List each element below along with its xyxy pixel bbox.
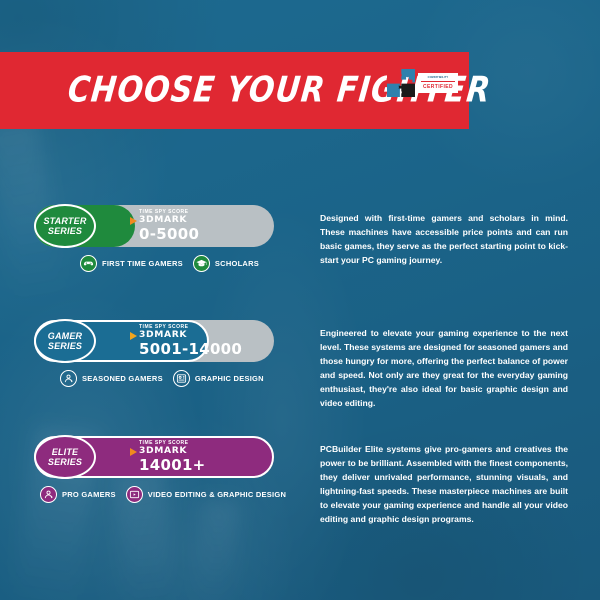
score-track: ELITE SERIES TIME SPY SCORE 3DMARK 14001… <box>34 436 274 478</box>
graduation-cap-icon <box>193 255 210 272</box>
video-edit-icon <box>126 486 143 503</box>
tag-first-time-gamers: FIRST TIME GAMERS <box>80 255 183 272</box>
tag-label: PRO GAMERS <box>62 490 116 499</box>
tag-label: FIRST TIME GAMERS <box>102 259 183 268</box>
tag-video-editing-graphic-design: VIDEO EDITING & GRAPHIC DESIGN <box>126 486 286 503</box>
score-track: STARTER SERIES TIME SPY SCORE 3DMARK 0-5… <box>34 205 274 247</box>
series-badge: GAMER SERIES <box>34 319 96 363</box>
score-brand: 3DMARK <box>139 446 207 457</box>
tier-description-column: Designed with first-time gamers and scho… <box>310 205 568 267</box>
divider <box>421 81 455 82</box>
score-block: TIME SPY SCORE 3DMARK 14001+ <box>130 440 206 474</box>
score-block: TIME SPY SCORE 3DMARK 5001-14000 <box>130 324 242 358</box>
tier-meter-column: ELITE SERIES TIME SPY SCORE 3DMARK 14001… <box>34 436 310 503</box>
score-value: 5001-14000 <box>139 341 242 358</box>
certified-plate: COMPATIBILITY CERTIFIED <box>418 73 458 92</box>
tier-tags: PRO GAMERS VIDEO EDITING & GRAPHIC DESIG… <box>40 486 310 503</box>
gamepad-icon <box>80 255 97 272</box>
score-value: 0-5000 <box>139 226 199 243</box>
tier-card-gamer: GAMER SERIES TIME SPY SCORE 3DMARK 5001-… <box>34 320 568 410</box>
tag-scholars: SCHOLARS <box>193 255 259 272</box>
tag-label: SCHOLARS <box>215 259 259 268</box>
compatibility-certified-badge: COMPATIBILITY CERTIFIED <box>386 68 458 98</box>
tier-description: Engineered to elevate your gaming experi… <box>320 326 568 410</box>
score-brand: 3DMARK <box>139 215 200 226</box>
tier-meter-column: STARTER SERIES TIME SPY SCORE 3DMARK 0-5… <box>34 205 310 272</box>
score-block: TIME SPY SCORE 3DMARK 0-5000 <box>130 209 199 243</box>
tag-label: SEASONED GAMERS <box>82 374 163 383</box>
puzzle-icon <box>386 68 416 98</box>
score-brand: 3DMARK <box>139 330 244 341</box>
series-badge-line1: GAMER <box>48 331 83 341</box>
tag-graphic-design: GRAPHIC DESIGN <box>173 370 264 387</box>
tier-meter-column: GAMER SERIES TIME SPY SCORE 3DMARK 5001-… <box>34 320 310 387</box>
tag-label: VIDEO EDITING & GRAPHIC DESIGN <box>148 490 286 499</box>
tag-label: GRAPHIC DESIGN <box>195 374 264 383</box>
design-tablet-icon <box>173 370 190 387</box>
tier-card-starter: STARTER SERIES TIME SPY SCORE 3DMARK 0-5… <box>34 205 568 272</box>
series-badge: STARTER SERIES <box>34 204 96 248</box>
tag-seasoned-gamers: SEASONED GAMERS <box>60 370 163 387</box>
series-badge-line1: STARTER <box>43 216 86 226</box>
tier-card-elite: ELITE SERIES TIME SPY SCORE 3DMARK 14001… <box>34 436 568 526</box>
score-track: GAMER SERIES TIME SPY SCORE 3DMARK 5001-… <box>34 320 274 362</box>
tier-description: PCBuilder Elite systems give pro-gamers … <box>320 442 568 526</box>
tier-description-column: Engineered to elevate your gaming experi… <box>310 320 568 410</box>
tag-pro-gamers: PRO GAMERS <box>40 486 116 503</box>
tier-tags: SEASONED GAMERS GRAPHIC DESIGN <box>60 370 310 387</box>
arrow-icon <box>130 448 137 456</box>
series-badge: ELITE SERIES <box>34 435 96 479</box>
gamer-headset-icon <box>60 370 77 387</box>
arrow-icon <box>130 332 137 340</box>
tier-description-column: PCBuilder Elite systems give pro-gamers … <box>310 436 568 526</box>
arrow-icon <box>130 217 137 225</box>
series-badge-line2: SERIES <box>48 457 82 467</box>
score-value: 14001+ <box>139 457 206 474</box>
certified-title: CERTIFIED <box>421 84 455 90</box>
series-badge-line2: SERIES <box>48 226 82 236</box>
series-badge-line2: SERIES <box>48 341 82 351</box>
series-badge-line1: ELITE <box>52 447 79 457</box>
tier-tags: FIRST TIME GAMERS SCHOLARS <box>80 255 310 272</box>
pro-gamer-icon <box>40 486 57 503</box>
tier-description: Designed with first-time gamers and scho… <box>320 211 568 267</box>
certified-subtitle: COMPATIBILITY <box>422 76 454 79</box>
